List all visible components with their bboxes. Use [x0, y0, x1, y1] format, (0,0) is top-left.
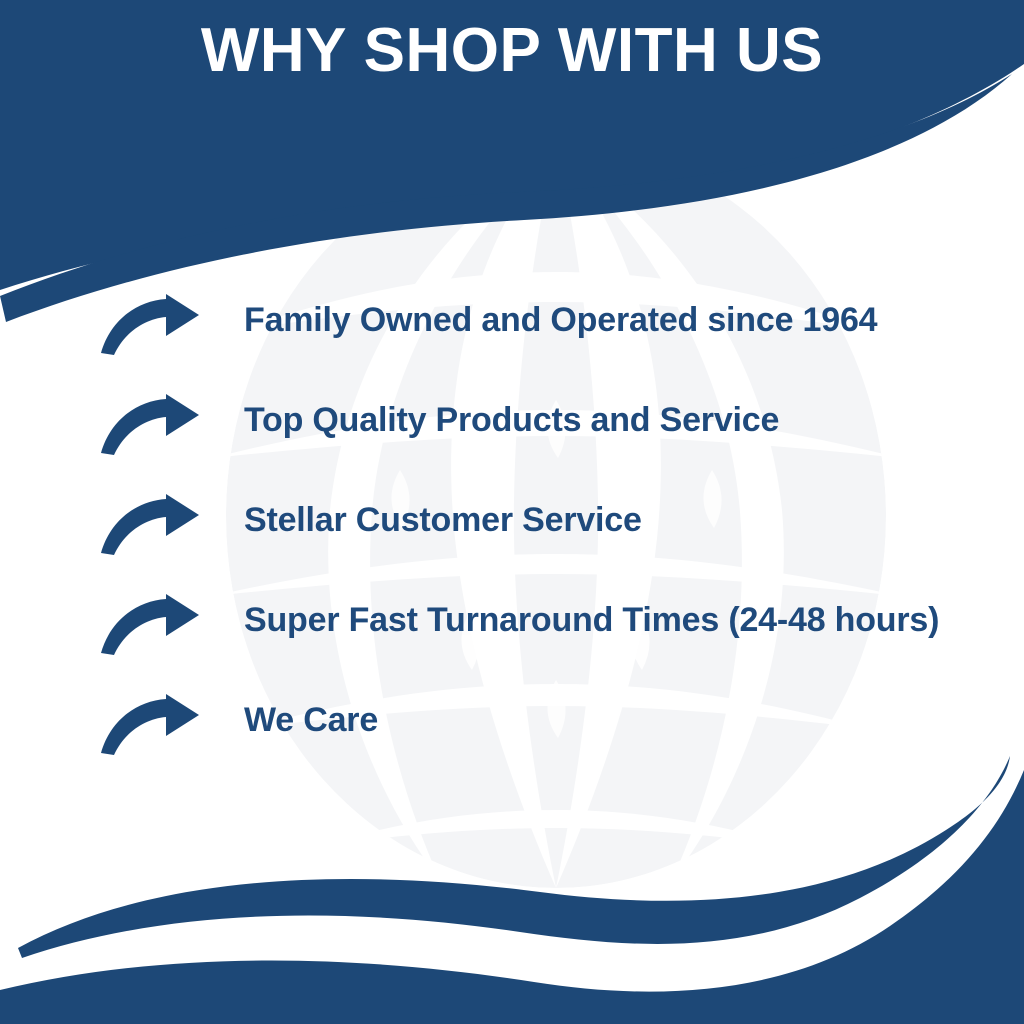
list-item: We Care — [98, 692, 998, 792]
list-item-label: Top Quality Products and Service — [244, 399, 998, 441]
top-ribbon — [0, 74, 1012, 322]
list-item: Super Fast Turnaround Times (24-48 hours… — [98, 592, 998, 692]
curved-arrow-right-icon — [98, 494, 202, 556]
list-item-label: Family Owned and Operated since 1964 — [244, 299, 998, 341]
curved-arrow-right-icon — [98, 594, 202, 656]
list-item: Stellar Customer Service — [98, 492, 998, 592]
page-title: WHY SHOP WITH US — [0, 12, 1024, 90]
list-item-label: Stellar Customer Service — [244, 499, 998, 541]
curved-arrow-right-icon — [98, 294, 202, 356]
curved-arrow-right-icon — [98, 694, 202, 756]
list-item-label: We Care — [244, 699, 998, 741]
curved-arrow-right-icon — [98, 394, 202, 456]
promo-graphic: WHY SHOP WITH US Family Owned and Operat… — [0, 0, 1024, 1024]
list-item-label: Super Fast Turnaround Times (24-48 hours… — [244, 599, 998, 641]
footer-band — [0, 770, 1024, 1024]
list-item: Family Owned and Operated since 1964 — [98, 292, 998, 392]
benefits-list: Family Owned and Operated since 1964 Top… — [98, 292, 998, 792]
list-item: Top Quality Products and Service — [98, 392, 998, 492]
